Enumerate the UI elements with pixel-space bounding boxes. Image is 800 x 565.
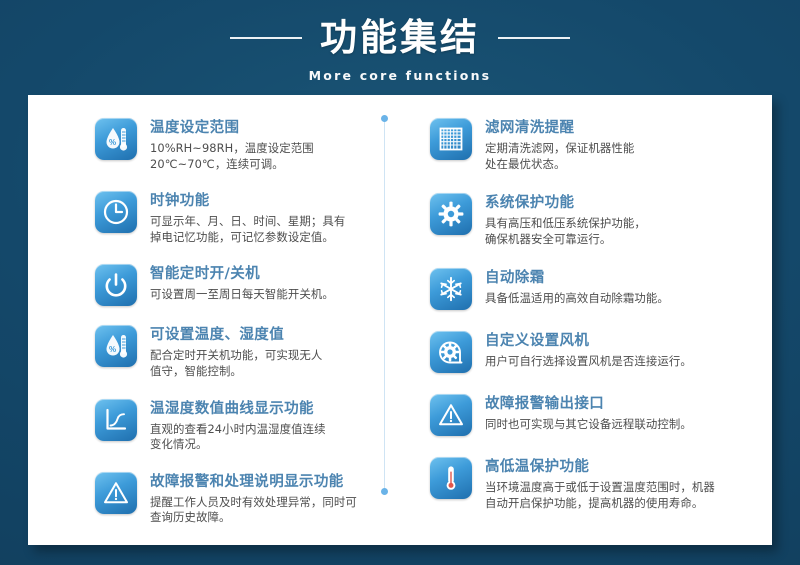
page-title: 功能集结: [320, 18, 480, 58]
feature-title: 自定义设置风机: [485, 332, 692, 351]
feature-text: 自定义设置风机 用户可自行选择设置风机是否连接运行。: [485, 331, 692, 370]
feature-item: 滤网清洗提醒 定期清洗滤网，保证机器性能 处在最优状态。: [430, 118, 750, 172]
feature-title: 滤网清洗提醒: [485, 119, 634, 138]
humidity-thermometer-icon: %: [95, 325, 137, 367]
feature-item: 系统保护功能 具有高压和低压系统保护功能， 确保机器安全可靠运行。: [430, 193, 750, 247]
feature-item: 故障报警输出接口 同时也可实现与其它设备远程联动控制。: [430, 394, 750, 436]
feature-title: 智能定时开/关机: [150, 265, 334, 284]
feature-item: 自定义设置风机 用户可自行选择设置风机是否连接运行。: [430, 331, 750, 373]
blower-fan-icon: [430, 331, 472, 373]
feature-desc: 直观的查看24小时内温湿度值连续 变化情况。: [150, 422, 326, 453]
thermometer-icon: [430, 457, 472, 499]
svg-text:%: %: [109, 345, 116, 354]
feature-desc: 同时也可实现与其它设备远程联动控制。: [485, 417, 692, 433]
feature-text: 智能定时开/关机 可设置周一至周日每天智能开关机。: [150, 264, 334, 303]
feature-title: 故障报警和处理说明显示功能: [150, 473, 357, 492]
feature-text: 温湿度数值曲线显示功能 直观的查看24小时内温湿度值连续 变化情况。: [150, 399, 326, 453]
snowflake-icon: [430, 268, 472, 310]
feature-desc: 具有高压和低压系统保护功能， 确保机器安全可靠运行。: [485, 216, 646, 247]
filter-mesh-icon: [430, 118, 472, 160]
title-row: 功能集结: [230, 18, 570, 58]
warning-triangle-icon: [95, 472, 137, 514]
curve-chart-icon: [95, 399, 137, 441]
feature-text: 故障报警输出接口 同时也可实现与其它设备远程联动控制。: [485, 394, 692, 433]
feature-text: 时钟功能 可显示年、月、日、时间、星期；具有 掉电记忆功能，可记忆参数设定值。: [150, 191, 345, 245]
feature-item: 时钟功能 可显示年、月、日、时间、星期；具有 掉电记忆功能，可记忆参数设定值。: [95, 191, 395, 245]
feature-item: 智能定时开/关机 可设置周一至周日每天智能开关机。: [95, 264, 395, 306]
right-feature-column: 滤网清洗提醒 定期清洗滤网，保证机器性能 处在最优状态。: [430, 118, 750, 533]
feature-item: 温湿度数值曲线显示功能 直观的查看24小时内温湿度值连续 变化情况。: [95, 399, 395, 453]
feature-title: 可设置温度、湿度值: [150, 326, 322, 345]
feature-title: 温湿度数值曲线显示功能: [150, 400, 326, 419]
title-rule-right: [498, 37, 570, 39]
left-feature-column: % 温度设定范围 10%RH~98RH，温度设定范围 20℃~70℃，连续可调。: [95, 118, 395, 545]
feature-desc: 定期清洗滤网，保证机器性能 处在最优状态。: [485, 141, 634, 172]
gear-icon: [430, 193, 472, 235]
feature-text: 滤网清洗提醒 定期清洗滤网，保证机器性能 处在最优状态。: [485, 118, 634, 172]
feature-item: % 可设置温度、湿度值 配合定时开关机功能，可实现无人 值守，智能控制。: [95, 325, 395, 379]
feature-desc: 具备低温适用的高效自动除霜功能。: [485, 291, 669, 307]
feature-text: 自动除霜 具备低温适用的高效自动除霜功能。: [485, 268, 669, 307]
promo-page: 功能集结 More core functions %: [0, 0, 800, 565]
humidity-thermometer-icon: %: [95, 118, 137, 160]
feature-desc: 用户可自行选择设置风机是否连接运行。: [485, 354, 692, 370]
feature-desc: 可显示年、月、日、时间、星期；具有 掉电记忆功能，可记忆参数设定值。: [150, 214, 345, 245]
feature-text: 可设置温度、湿度值 配合定时开关机功能，可实现无人 值守，智能控制。: [150, 325, 322, 379]
feature-desc: 当环境温度高于或低于设置温度范围时，机器 自动开启保护功能，提高机器的使用寿命。: [485, 480, 715, 511]
page-header: 功能集结 More core functions: [0, 0, 800, 95]
feature-desc: 配合定时开关机功能，可实现无人 值守，智能控制。: [150, 348, 322, 379]
clock-icon: [95, 191, 137, 233]
feature-title: 自动除霜: [485, 269, 669, 288]
feature-text: 故障报警和处理说明显示功能 提醒工作人员及时有效处理异常，同时可 查询历史故障。: [150, 472, 357, 526]
feature-title: 时钟功能: [150, 192, 345, 211]
feature-item: 高低温保护功能 当环境温度高于或低于设置温度范围时，机器 自动开启保护功能，提高…: [430, 457, 750, 511]
feature-desc: 10%RH~98RH，温度设定范围 20℃~70℃，连续可调。: [150, 141, 314, 172]
feature-desc: 可设置周一至周日每天智能开关机。: [150, 287, 334, 303]
feature-desc: 提醒工作人员及时有效处理异常，同时可 查询历史故障。: [150, 495, 357, 526]
feature-item: 自动除霜 具备低温适用的高效自动除霜功能。: [430, 268, 750, 310]
feature-text: 温度设定范围 10%RH~98RH，温度设定范围 20℃~70℃，连续可调。: [150, 118, 314, 172]
svg-text:%: %: [109, 138, 116, 147]
page-subtitle: More core functions: [309, 68, 492, 83]
feature-title: 温度设定范围: [150, 119, 314, 138]
feature-text: 系统保护功能 具有高压和低压系统保护功能， 确保机器安全可靠运行。: [485, 193, 646, 247]
feature-text: 高低温保护功能 当环境温度高于或低于设置温度范围时，机器 自动开启保护功能，提高…: [485, 457, 715, 511]
title-rule-left: [230, 37, 302, 39]
power-icon: [95, 264, 137, 306]
feature-item: 故障报警和处理说明显示功能 提醒工作人员及时有效处理异常，同时可 查询历史故障。: [95, 472, 395, 526]
feature-title: 系统保护功能: [485, 194, 646, 213]
feature-title: 高低温保护功能: [485, 458, 715, 477]
feature-title: 故障报警输出接口: [485, 395, 692, 414]
warning-triangle-icon: [430, 394, 472, 436]
feature-item: % 温度设定范围 10%RH~98RH，温度设定范围 20℃~70℃，连续可调。: [95, 118, 395, 172]
